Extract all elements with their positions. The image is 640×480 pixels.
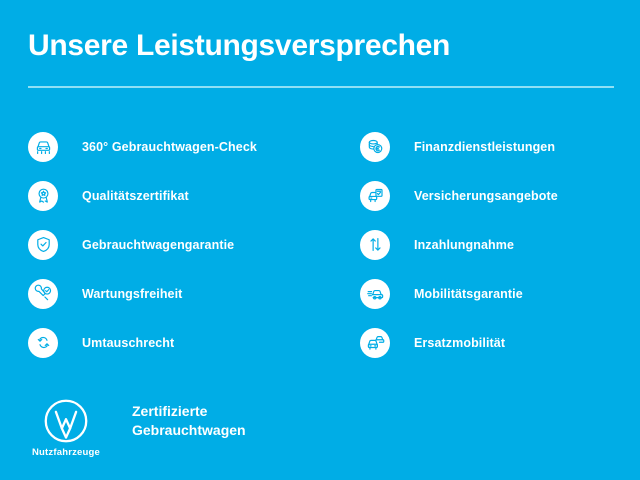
- page-title: Unsere Leistungsversprechen: [28, 29, 450, 63]
- benefit-item-gebrauchtwagen-check: 360° Gebrauchtwagen-Check: [28, 122, 338, 171]
- benefit-label: 360° Gebrauchtwagen-Check: [82, 140, 257, 154]
- coins-euro-icon: [360, 132, 390, 162]
- benefit-item-versicherungsangebote: Versicherungsangebote: [360, 171, 640, 220]
- wrench-check-icon: [28, 279, 58, 309]
- footer-claim-line1: Zertifizierte: [132, 402, 246, 421]
- benefit-label: Ersatzmobilität: [414, 336, 505, 350]
- car-motion-icon: [360, 279, 390, 309]
- slide-root: Unsere Leistungsversprechen 360° Gebrauc…: [0, 0, 640, 480]
- footer: Nutzfahrzeuge Zertifizierte Gebrauchtwag…: [30, 398, 246, 458]
- benefit-label: Finanzdienstleistungen: [414, 140, 555, 154]
- footer-claim-line2: Gebrauchtwagen: [132, 421, 246, 440]
- benefit-label: Wartungsfreiheit: [82, 287, 182, 301]
- car-check-360-icon: [28, 132, 58, 162]
- shield-check-icon: [28, 230, 58, 260]
- brand-logo: Nutzfahrzeuge: [30, 398, 102, 458]
- header-divider: [28, 86, 614, 88]
- benefit-item-inzahlungnahme: Inzahlungnahme: [360, 220, 640, 269]
- benefit-label: Versicherungsangebote: [414, 189, 558, 203]
- brand-wordmark: Nutzfahrzeuge: [32, 447, 100, 458]
- benefit-label: Gebrauchtwagengarantie: [82, 238, 234, 252]
- benefit-item-gebrauchtwagengarantie: Gebrauchtwagengarantie: [28, 220, 338, 269]
- footer-claim: Zertifizierte Gebrauchtwagen: [132, 402, 246, 440]
- award-rosette-icon: [28, 181, 58, 211]
- benefit-label: Inzahlungnahme: [414, 238, 514, 252]
- benefit-item-qualitaetszertifikat: Qualitätszertifikat: [28, 171, 338, 220]
- benefit-label: Umtauschrecht: [82, 336, 174, 350]
- two-cars-icon: [360, 328, 390, 358]
- benefits-column-left: 360° Gebrauchtwagen-Check Qualitätszerti…: [28, 122, 338, 367]
- benefit-item-finanzdienstleistungen: Finanzdienstleistungen: [360, 122, 640, 171]
- benefit-item-ersatzmobilitaet: Ersatzmobilität: [360, 318, 640, 367]
- arrows-up-down-icon: [360, 230, 390, 260]
- benefit-item-wartungsfreiheit: Wartungsfreiheit: [28, 269, 338, 318]
- exchange-arrows-icon: [28, 328, 58, 358]
- benefit-item-mobilitaetsgarantie: Mobilitätsgarantie: [360, 269, 640, 318]
- benefit-label: Qualitätszertifikat: [82, 189, 189, 203]
- volkswagen-roundel-icon: [43, 398, 89, 444]
- benefits-column-right: Finanzdienstleistungen Versicherungsange…: [360, 122, 640, 367]
- benefit-item-umtauschrecht: Umtauschrecht: [28, 318, 338, 367]
- benefit-label: Mobilitätsgarantie: [414, 287, 523, 301]
- car-document-check-icon: [360, 181, 390, 211]
